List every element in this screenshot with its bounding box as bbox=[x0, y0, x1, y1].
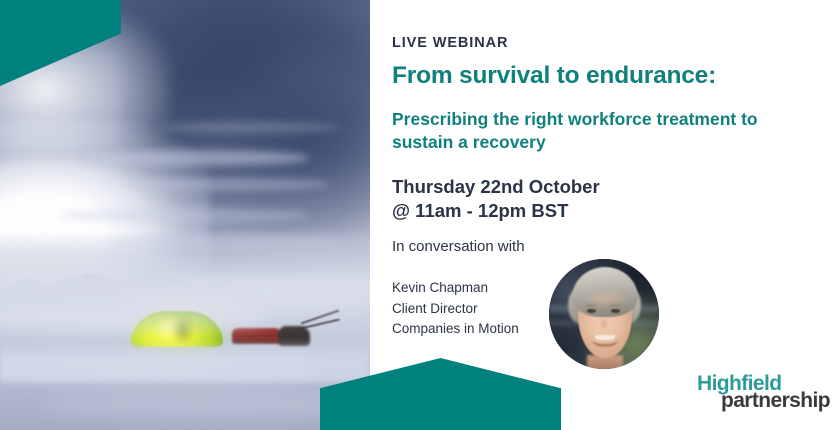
highfield-partnership-logo: Highfield partnership bbox=[697, 372, 832, 418]
eyebrow-label: LIVE WEBINAR bbox=[392, 35, 508, 51]
cloud-streak bbox=[80, 150, 310, 166]
page-title: From survival to endurance: bbox=[392, 62, 716, 90]
avatar-eyebrow-right bbox=[609, 304, 621, 307]
logo-word-partnership: partnership bbox=[721, 389, 830, 413]
conversation-label: In conversation with bbox=[392, 238, 525, 255]
cloud-streak bbox=[160, 122, 340, 133]
expedition-photo bbox=[0, 0, 370, 430]
avatar-nose bbox=[600, 314, 609, 328]
cloud-streak bbox=[60, 208, 310, 223]
cloud-streak bbox=[120, 178, 330, 191]
subtitle: Prescribing the right workforce treatmen… bbox=[392, 108, 792, 154]
avatar-chin bbox=[589, 345, 621, 357]
event-datetime: Thursday 22nd October @ 11am - 12pm BST bbox=[392, 175, 692, 223]
event-date: Thursday 22nd October bbox=[392, 175, 692, 199]
avatar-eyebrow-left bbox=[585, 304, 597, 307]
speaker-avatar bbox=[549, 259, 659, 369]
avatar-eye-left bbox=[587, 309, 596, 313]
event-time: @ 11am - 12pm BST bbox=[392, 199, 692, 223]
avatar-eye-right bbox=[611, 309, 620, 313]
webinar-promo-banner: LIVE WEBINAR From survival to endurance:… bbox=[0, 0, 840, 430]
